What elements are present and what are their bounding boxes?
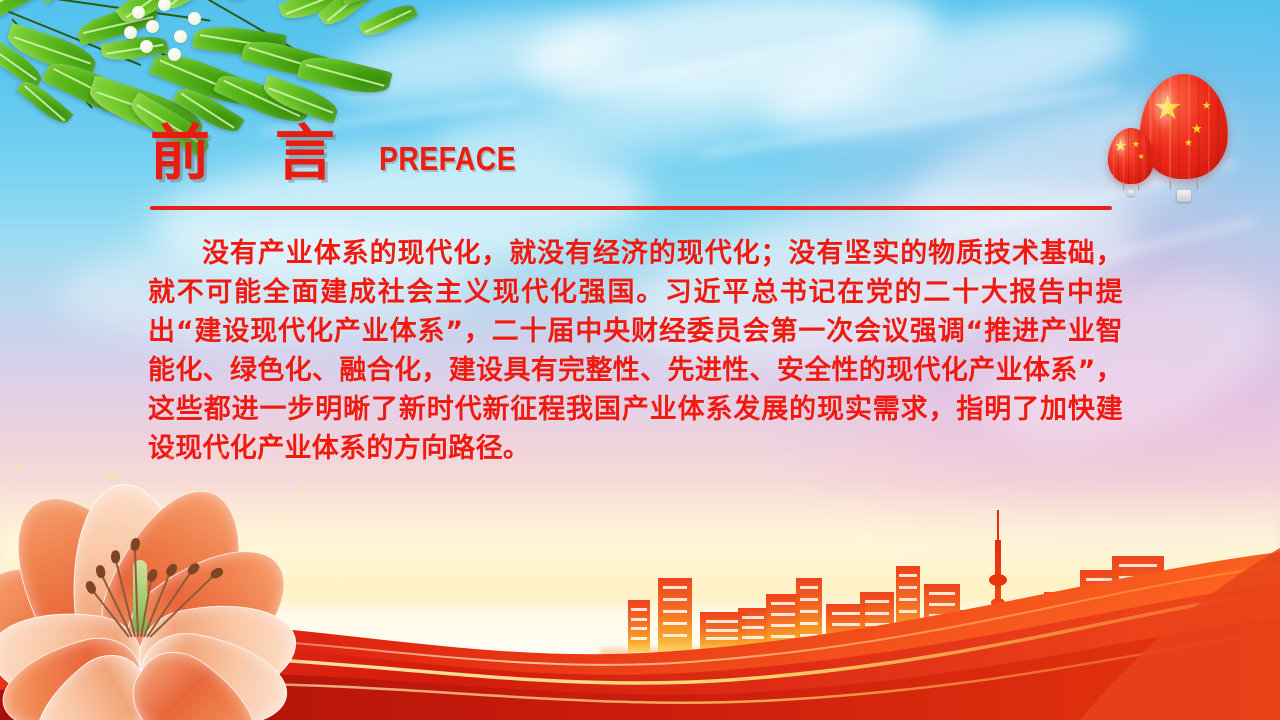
star-icon: ★	[1184, 139, 1193, 149]
title-chinese: 前 言	[150, 124, 357, 184]
leaf-icon	[0, 0, 65, 18]
title-divider	[150, 206, 1112, 210]
balloon-basket	[1127, 190, 1134, 196]
blossom-icon	[140, 40, 153, 53]
leaf-icon	[358, 0, 418, 41]
preface-body-text: 没有产业体系的现代化，就没有经济的现代化；没有坚实的物质技术基础，就不可能全面建…	[148, 234, 1123, 468]
blossom-icon	[132, 6, 145, 19]
star-icon: ★	[1114, 139, 1128, 155]
balloon-ropes	[1170, 179, 1198, 191]
blossom-icon	[158, 0, 171, 11]
orange-lily-decoration	[0, 458, 310, 720]
star-icon: ★	[1132, 140, 1140, 149]
balloon-envelope: ★ ★ ★	[1108, 128, 1154, 184]
star-icon: ★	[1191, 122, 1203, 135]
blossom-icon	[174, 30, 187, 43]
page-title: 前 言 PREFACE	[150, 124, 538, 184]
title-english: PREFACE	[379, 142, 516, 175]
star-icon: ★	[1137, 153, 1144, 161]
star-icon: ★	[1202, 101, 1212, 112]
blossom-icon	[124, 26, 137, 39]
star-icon: ★	[1152, 91, 1182, 125]
hot-air-balloon-icon: ★ ★ ★	[1108, 128, 1154, 196]
blossom-icon	[168, 48, 181, 61]
tower-mast	[997, 510, 999, 542]
blossom-icon	[146, 20, 159, 33]
preface-slide: ★ ★ ★ ★ ★ ★ ★ 前 言 PREFACE 没有产业体系的现代化，就没有…	[0, 0, 1280, 720]
blossom-icon	[188, 12, 201, 25]
balloon-basket	[1177, 190, 1191, 202]
